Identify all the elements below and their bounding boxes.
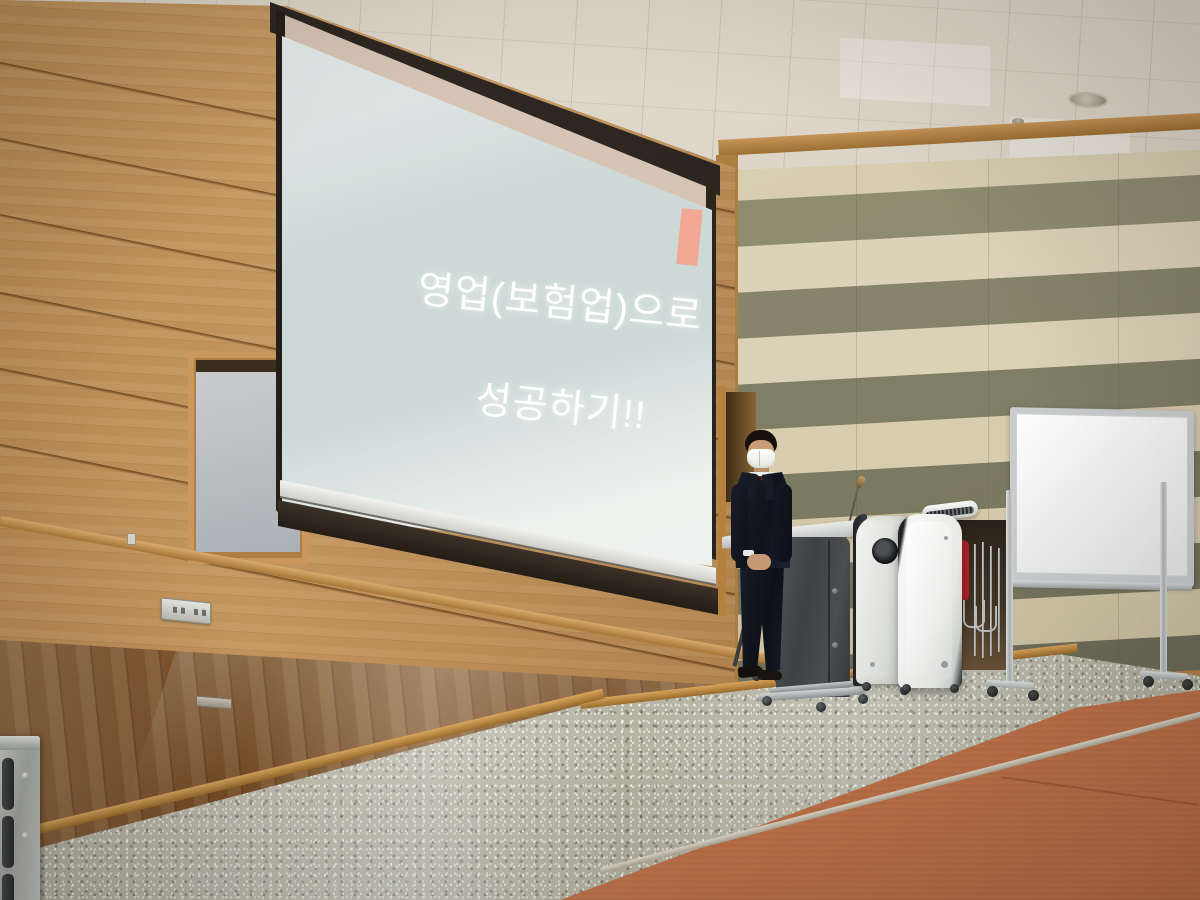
radiator-bolt [22, 772, 29, 779]
lectern-knob[interactable] [832, 588, 838, 594]
face-mask-icon [747, 449, 775, 468]
whiteboard-caster [1182, 679, 1193, 690]
lectern-caster [762, 696, 772, 706]
presenter [722, 430, 798, 692]
lectern-caster [858, 694, 868, 704]
air-purifier-caster [862, 682, 871, 691]
radiator-top-cap [0, 736, 40, 750]
air-conditioner-indicator [944, 536, 948, 540]
chair-leg-rod [990, 546, 992, 656]
presenter-shoe [758, 670, 782, 680]
lectern-seam [828, 540, 830, 688]
cast-iron-radiator [0, 736, 40, 900]
whiteboard-caster [1143, 676, 1154, 687]
lectern-caster [816, 702, 826, 712]
radiator-fin [2, 758, 14, 810]
presenter-arm [775, 484, 792, 562]
radiator-fin [2, 874, 14, 900]
lecture-hall-photo: 영업(보험업)으로 성공하기!! [0, 0, 1200, 900]
whiteboard-stand-leg [1006, 490, 1013, 686]
whiteboard-caster [987, 686, 998, 697]
chair-frame-hoop [975, 606, 997, 632]
presenter-trousers [740, 564, 784, 670]
air-conditioner-power-button[interactable] [941, 661, 948, 668]
chair-leg-rod [998, 548, 1000, 652]
whiteboard-caster [1028, 690, 1039, 701]
presenter-hands [747, 554, 771, 570]
radiator-bolt [22, 832, 29, 839]
air-conditioner-caster [902, 684, 911, 693]
air-purifier-indicator [870, 662, 875, 667]
air-conditioner-caster [950, 684, 959, 693]
lectern-knob[interactable] [832, 642, 838, 648]
wall-socket[interactable] [127, 533, 136, 545]
ceiling-tile [840, 38, 990, 106]
radiator-fin [2, 816, 14, 868]
whiteboard-stand-leg [1160, 482, 1167, 682]
air-purifier-fan-icon [872, 538, 898, 564]
air-conditioner-front-panel [906, 521, 952, 679]
